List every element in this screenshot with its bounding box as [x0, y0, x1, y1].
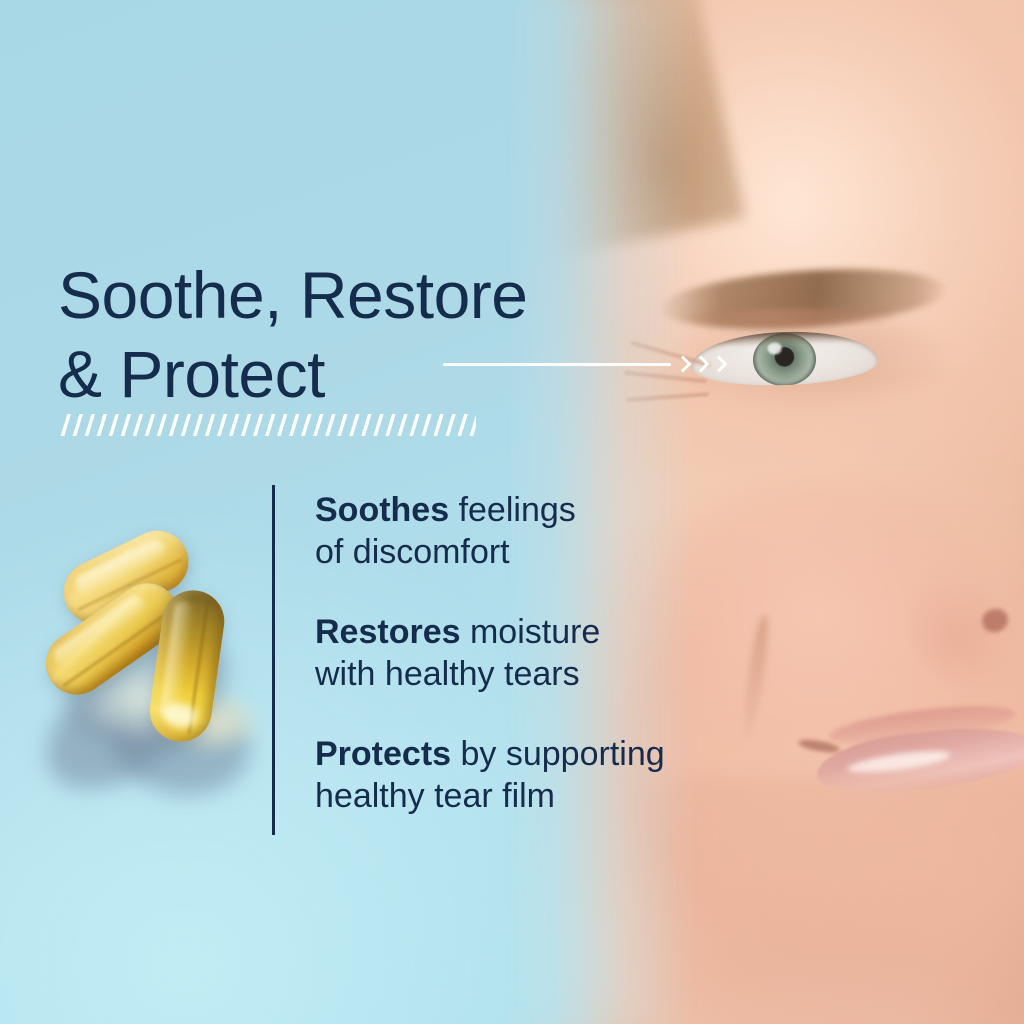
chevron-right-icon: [695, 356, 706, 373]
list-item: Soothes feelings of discomfort: [315, 489, 735, 573]
capsule-sheen: [158, 600, 193, 720]
benefits-list: Soothes feelings of discomfort Restores …: [315, 489, 735, 817]
omega-3-softgel-capsules: [24, 534, 274, 816]
marketing-banner: Soothe, Restore & Protect Soothes feelin…: [0, 0, 1024, 1024]
page-title: Soothe, Restore & Protect: [58, 256, 678, 414]
list-item: Protects by supporting healthy tear film: [315, 733, 735, 817]
benefit-lead: Protects: [315, 735, 451, 773]
arrow-indicator: [443, 355, 725, 375]
diagonal-hatch-pattern: [60, 414, 476, 436]
list-item: Restores moisture with healthy tears: [315, 611, 735, 695]
chevron-right-icon: [713, 356, 724, 373]
benefit-lead: Soothes: [315, 491, 449, 529]
eyelid-crease: [681, 309, 899, 325]
chevron-right-icon: [677, 356, 688, 373]
benefit-lead: Restores: [315, 613, 461, 651]
horizontal-rule: [443, 363, 671, 366]
